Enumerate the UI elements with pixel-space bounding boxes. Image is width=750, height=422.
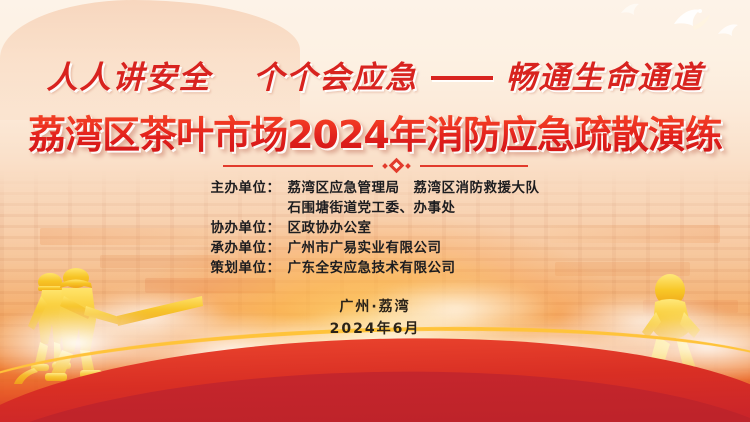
organizer-row: 策划单位： 广东全安应急技术有限公司 <box>211 258 540 278</box>
organizer-label: 承办单位： <box>211 238 288 258</box>
organizer-value: 区政协办公室 <box>288 218 540 238</box>
organizer-row: 主办单位： 荔湾区应急管理局 荔湾区消防救援大队 <box>211 178 540 198</box>
divider-diamond-icon <box>388 158 404 174</box>
organizer-label: 策划单位： <box>211 258 288 278</box>
poster-canvas: 人人讲安全 个个会应急 畅通生命通道 荔湾区茶叶市场2024年消防应急疏散演练 … <box>0 0 750 422</box>
organizer-value: 石围塘街道党工委、办事处 <box>288 198 540 218</box>
organizer-value: 广州市广易实业有限公司 <box>288 238 540 258</box>
organizer-value: 荔湾区应急管理局 荔湾区消防救援大队 <box>288 178 540 198</box>
dove-icon <box>716 22 746 42</box>
slogan-dash <box>431 76 493 80</box>
divider-ornament <box>383 160 410 171</box>
main-title: 荔湾区茶叶市场2024年消防应急疏散演练 <box>0 104 750 159</box>
dove-icon <box>620 2 646 20</box>
slogan-part-3: 畅通生命通道 <box>506 60 704 95</box>
divider-dot <box>382 163 388 169</box>
slogan-part-2: 个个会应急 <box>253 60 418 95</box>
organizer-label: 协办单位： <box>211 218 288 238</box>
divider-rule-left <box>223 165 373 167</box>
organizer-label: 主办单位： <box>211 178 288 198</box>
organizer-value: 广东全安应急技术有限公司 <box>288 258 540 278</box>
divider-rule-right <box>420 165 528 167</box>
organizer-row: 石围塘街道党工委、办事处 <box>211 198 540 218</box>
dove-icon <box>670 6 716 36</box>
organizer-row: 承办单位： 广州市广易实业有限公司 <box>211 238 540 258</box>
slogan-line: 人人讲安全 个个会应急 畅通生命通道 <box>0 52 750 97</box>
organizers-table: 主办单位： 荔湾区应急管理局 荔湾区消防救援大队 石围塘街道党工委、办事处 协办… <box>211 178 540 278</box>
date-text: 2024年6月 <box>0 318 750 340</box>
organizers-block: 主办单位： 荔湾区应急管理局 荔湾区消防救援大队 石围塘街道党工委、办事处 协办… <box>0 178 750 278</box>
organizer-label <box>211 198 288 218</box>
footer-block: 广州·荔湾 2024年6月 <box>0 296 750 340</box>
organizer-row: 协办单位： 区政协办公室 <box>211 218 540 238</box>
divider-dot <box>405 163 411 169</box>
slogan-part-1: 人人讲安全 <box>47 60 212 95</box>
ornamental-divider <box>0 160 750 171</box>
location-text: 广州·荔湾 <box>0 296 750 318</box>
